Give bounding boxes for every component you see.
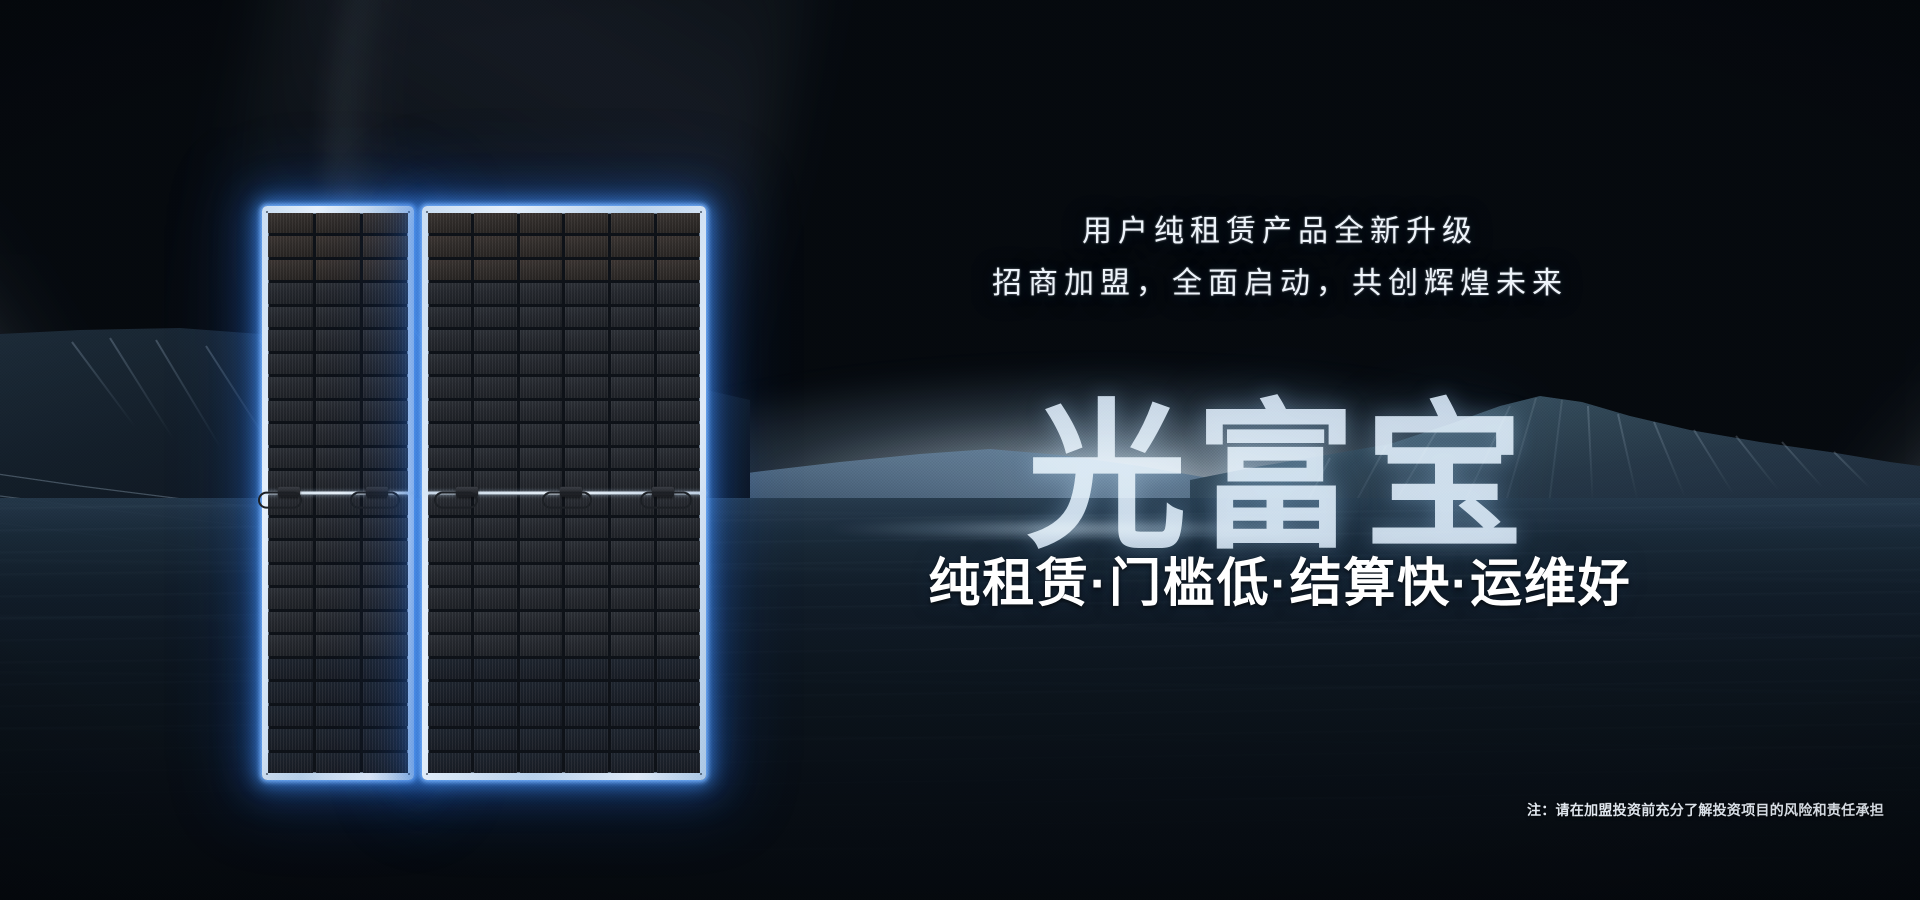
solar-cell <box>611 588 654 608</box>
solar-cell <box>657 518 700 538</box>
solar-panel-group <box>262 206 706 780</box>
solar-panel-module-right <box>422 206 706 780</box>
solar-cell <box>316 729 361 749</box>
solar-cell <box>363 401 408 421</box>
solar-cell <box>363 260 408 280</box>
solar-cell <box>316 448 361 468</box>
solar-cell <box>565 236 608 256</box>
solar-cell <box>520 471 563 491</box>
solar-cell <box>611 377 654 397</box>
solar-cell <box>565 612 608 632</box>
solar-cell <box>565 541 608 561</box>
frame-screw <box>426 211 428 213</box>
frame-screw <box>266 773 268 775</box>
solar-cell <box>316 635 361 655</box>
solar-cell <box>428 753 471 773</box>
solar-cell <box>657 682 700 702</box>
solar-cell <box>363 588 408 608</box>
solar-cell <box>363 236 408 256</box>
solar-cell <box>363 565 408 585</box>
panel-cable <box>434 492 478 509</box>
solar-cell <box>657 448 700 468</box>
solar-cell <box>363 729 408 749</box>
solar-cell <box>565 307 608 327</box>
solar-cell <box>316 682 361 702</box>
solar-cell <box>657 354 700 374</box>
solar-cell <box>474 612 517 632</box>
solar-cell <box>474 588 517 608</box>
solar-cell <box>268 682 313 702</box>
solar-cell <box>474 354 517 374</box>
solar-cell <box>565 424 608 444</box>
solar-cell <box>565 729 608 749</box>
solar-cell <box>474 260 517 280</box>
solar-cell <box>268 377 313 397</box>
solar-cell <box>268 612 313 632</box>
solar-cell <box>657 635 700 655</box>
solar-cell <box>268 448 313 468</box>
solar-cell <box>520 283 563 303</box>
solar-cell <box>565 565 608 585</box>
solar-cell <box>268 518 313 538</box>
solar-cell <box>363 424 408 444</box>
solar-cell <box>268 659 313 679</box>
solar-cell <box>520 448 563 468</box>
solar-cell <box>268 424 313 444</box>
solar-cell <box>565 753 608 773</box>
solar-cell <box>611 330 654 350</box>
solar-cell <box>268 236 313 256</box>
solar-cell <box>268 541 313 561</box>
solar-cell <box>316 706 361 726</box>
solar-cell <box>363 448 408 468</box>
solar-cell <box>428 635 471 655</box>
solar-cell <box>428 659 471 679</box>
solar-cell <box>268 283 313 303</box>
solar-cell <box>268 753 313 773</box>
solar-cell <box>520 236 563 256</box>
solar-cell <box>363 706 408 726</box>
solar-cell <box>474 448 517 468</box>
solar-cell <box>363 612 408 632</box>
solar-cell <box>474 659 517 679</box>
solar-cell <box>316 753 361 773</box>
solar-cell <box>657 565 700 585</box>
solar-cell <box>474 424 517 444</box>
solar-cell <box>520 354 563 374</box>
solar-cell <box>474 518 517 538</box>
solar-cell <box>657 729 700 749</box>
solar-cell <box>520 612 563 632</box>
solar-cell <box>520 307 563 327</box>
solar-cell <box>520 401 563 421</box>
panel-cable <box>640 492 692 509</box>
solar-cell <box>363 283 408 303</box>
solar-cell <box>565 682 608 702</box>
solar-cell <box>657 236 700 256</box>
solar-cell <box>363 377 408 397</box>
solar-cell <box>268 260 313 280</box>
solar-cell <box>316 354 361 374</box>
solar-cell <box>520 659 563 679</box>
solar-cell <box>520 753 563 773</box>
solar-cell <box>657 541 700 561</box>
frame-screw <box>700 773 702 775</box>
solar-cell <box>428 448 471 468</box>
solar-cell <box>611 283 654 303</box>
solar-cell <box>611 541 654 561</box>
solar-cell <box>611 682 654 702</box>
solar-cell <box>611 401 654 421</box>
panel-cable <box>542 492 592 509</box>
solar-cell <box>611 236 654 256</box>
solar-cell <box>428 588 471 608</box>
solar-cell <box>363 518 408 538</box>
solar-cell <box>428 330 471 350</box>
solar-cell <box>316 612 361 632</box>
solar-cell <box>611 753 654 773</box>
solar-cell <box>520 213 563 233</box>
solar-cell <box>611 635 654 655</box>
solar-cell <box>474 213 517 233</box>
solar-cell <box>268 706 313 726</box>
solar-cell <box>520 330 563 350</box>
solar-cell <box>474 330 517 350</box>
solar-cell <box>565 354 608 374</box>
solar-cell <box>611 612 654 632</box>
solar-cell <box>611 354 654 374</box>
solar-cell <box>474 236 517 256</box>
solar-cell <box>363 213 408 233</box>
solar-cell <box>428 377 471 397</box>
solar-cell <box>565 377 608 397</box>
solar-cell <box>428 518 471 538</box>
solar-cell <box>428 541 471 561</box>
solar-cell <box>268 729 313 749</box>
panel-cable <box>350 492 400 509</box>
solar-cell <box>316 236 361 256</box>
frame-screw <box>700 211 702 213</box>
solar-cell <box>611 260 654 280</box>
solar-cell <box>316 541 361 561</box>
solar-cell <box>428 354 471 374</box>
solar-cell <box>363 354 408 374</box>
frame-screw <box>408 773 410 775</box>
solar-cell <box>565 260 608 280</box>
solar-cell <box>520 541 563 561</box>
solar-cell <box>520 518 563 538</box>
solar-cell <box>268 635 313 655</box>
solar-cell <box>611 213 654 233</box>
solar-cell <box>520 588 563 608</box>
solar-cell <box>657 706 700 726</box>
solar-cell <box>565 659 608 679</box>
solar-cell <box>316 588 361 608</box>
solar-cell <box>611 659 654 679</box>
solar-cell <box>611 471 654 491</box>
solar-cell <box>611 424 654 444</box>
solar-cell <box>474 541 517 561</box>
solar-cell <box>268 588 313 608</box>
solar-cell <box>565 330 608 350</box>
solar-cell <box>316 283 361 303</box>
solar-cell <box>363 635 408 655</box>
solar-cell <box>520 682 563 702</box>
solar-cell <box>363 753 408 773</box>
solar-cell <box>268 354 313 374</box>
solar-cell <box>428 729 471 749</box>
solar-cell <box>316 213 361 233</box>
solar-cell <box>657 401 700 421</box>
solar-cell <box>474 706 517 726</box>
frame-screw <box>426 773 428 775</box>
solar-cell <box>657 307 700 327</box>
solar-cell <box>316 377 361 397</box>
solar-cell <box>474 682 517 702</box>
solar-cell <box>657 377 700 397</box>
solar-cell <box>316 424 361 444</box>
solar-panel-module-left <box>262 206 414 780</box>
solar-cell <box>268 565 313 585</box>
solar-cell <box>520 377 563 397</box>
solar-cell <box>363 541 408 561</box>
solar-cell <box>363 330 408 350</box>
solar-cell <box>520 729 563 749</box>
solar-cell <box>657 424 700 444</box>
solar-cell <box>474 753 517 773</box>
promo-banner: 用户纯租赁产品全新升级 招商加盟，全面启动，共创辉煌未来 光富宝 纯租赁·门槛低… <box>0 0 1920 900</box>
solar-cell <box>565 706 608 726</box>
solar-cell <box>474 635 517 655</box>
solar-cell <box>428 213 471 233</box>
solar-cell <box>474 283 517 303</box>
solar-cell <box>363 307 408 327</box>
solar-cell <box>611 448 654 468</box>
solar-cell <box>657 588 700 608</box>
solar-cell <box>428 565 471 585</box>
solar-cell <box>520 706 563 726</box>
panel-cable <box>258 492 302 509</box>
solar-cell <box>363 682 408 702</box>
solar-cell <box>611 307 654 327</box>
solar-cell <box>428 424 471 444</box>
solar-cell <box>657 260 700 280</box>
solar-cell <box>363 659 408 679</box>
solar-cell <box>428 307 471 327</box>
solar-cell <box>565 518 608 538</box>
solar-cell <box>474 495 517 515</box>
solar-cell <box>428 260 471 280</box>
solar-cell <box>268 307 313 327</box>
frame-screw <box>266 211 268 213</box>
solar-cell <box>611 706 654 726</box>
solar-cell <box>474 377 517 397</box>
solar-cell <box>657 213 700 233</box>
solar-cell <box>428 401 471 421</box>
solar-cell <box>565 213 608 233</box>
solar-cell <box>474 565 517 585</box>
solar-cell <box>428 706 471 726</box>
solar-cell <box>316 330 361 350</box>
solar-cell <box>657 612 700 632</box>
solar-cell <box>474 729 517 749</box>
solar-cell <box>520 260 563 280</box>
solar-cell <box>565 401 608 421</box>
solar-cell <box>316 471 361 491</box>
solar-cell <box>474 401 517 421</box>
solar-cell <box>657 330 700 350</box>
solar-cell <box>520 565 563 585</box>
solar-cell <box>657 283 700 303</box>
solar-cell <box>268 213 313 233</box>
solar-cell <box>611 729 654 749</box>
solar-cell <box>268 330 313 350</box>
solar-cell <box>428 612 471 632</box>
solar-cell <box>657 659 700 679</box>
solar-cell <box>316 307 361 327</box>
solar-cell <box>316 518 361 538</box>
solar-cell <box>428 283 471 303</box>
frame-screw <box>408 211 410 213</box>
solar-cell <box>611 518 654 538</box>
solar-cell <box>474 307 517 327</box>
solar-cell <box>268 401 313 421</box>
solar-cell <box>428 236 471 256</box>
solar-cell <box>316 260 361 280</box>
solar-cell <box>520 424 563 444</box>
solar-cell <box>316 401 361 421</box>
solar-cell <box>565 588 608 608</box>
solar-cell <box>474 471 517 491</box>
solar-cell <box>565 448 608 468</box>
solar-cell <box>316 659 361 679</box>
solar-cell <box>565 283 608 303</box>
solar-cell <box>520 635 563 655</box>
solar-cell <box>657 753 700 773</box>
solar-cell <box>316 565 361 585</box>
solar-cell <box>565 635 608 655</box>
solar-cell <box>611 565 654 585</box>
solar-cell <box>428 682 471 702</box>
